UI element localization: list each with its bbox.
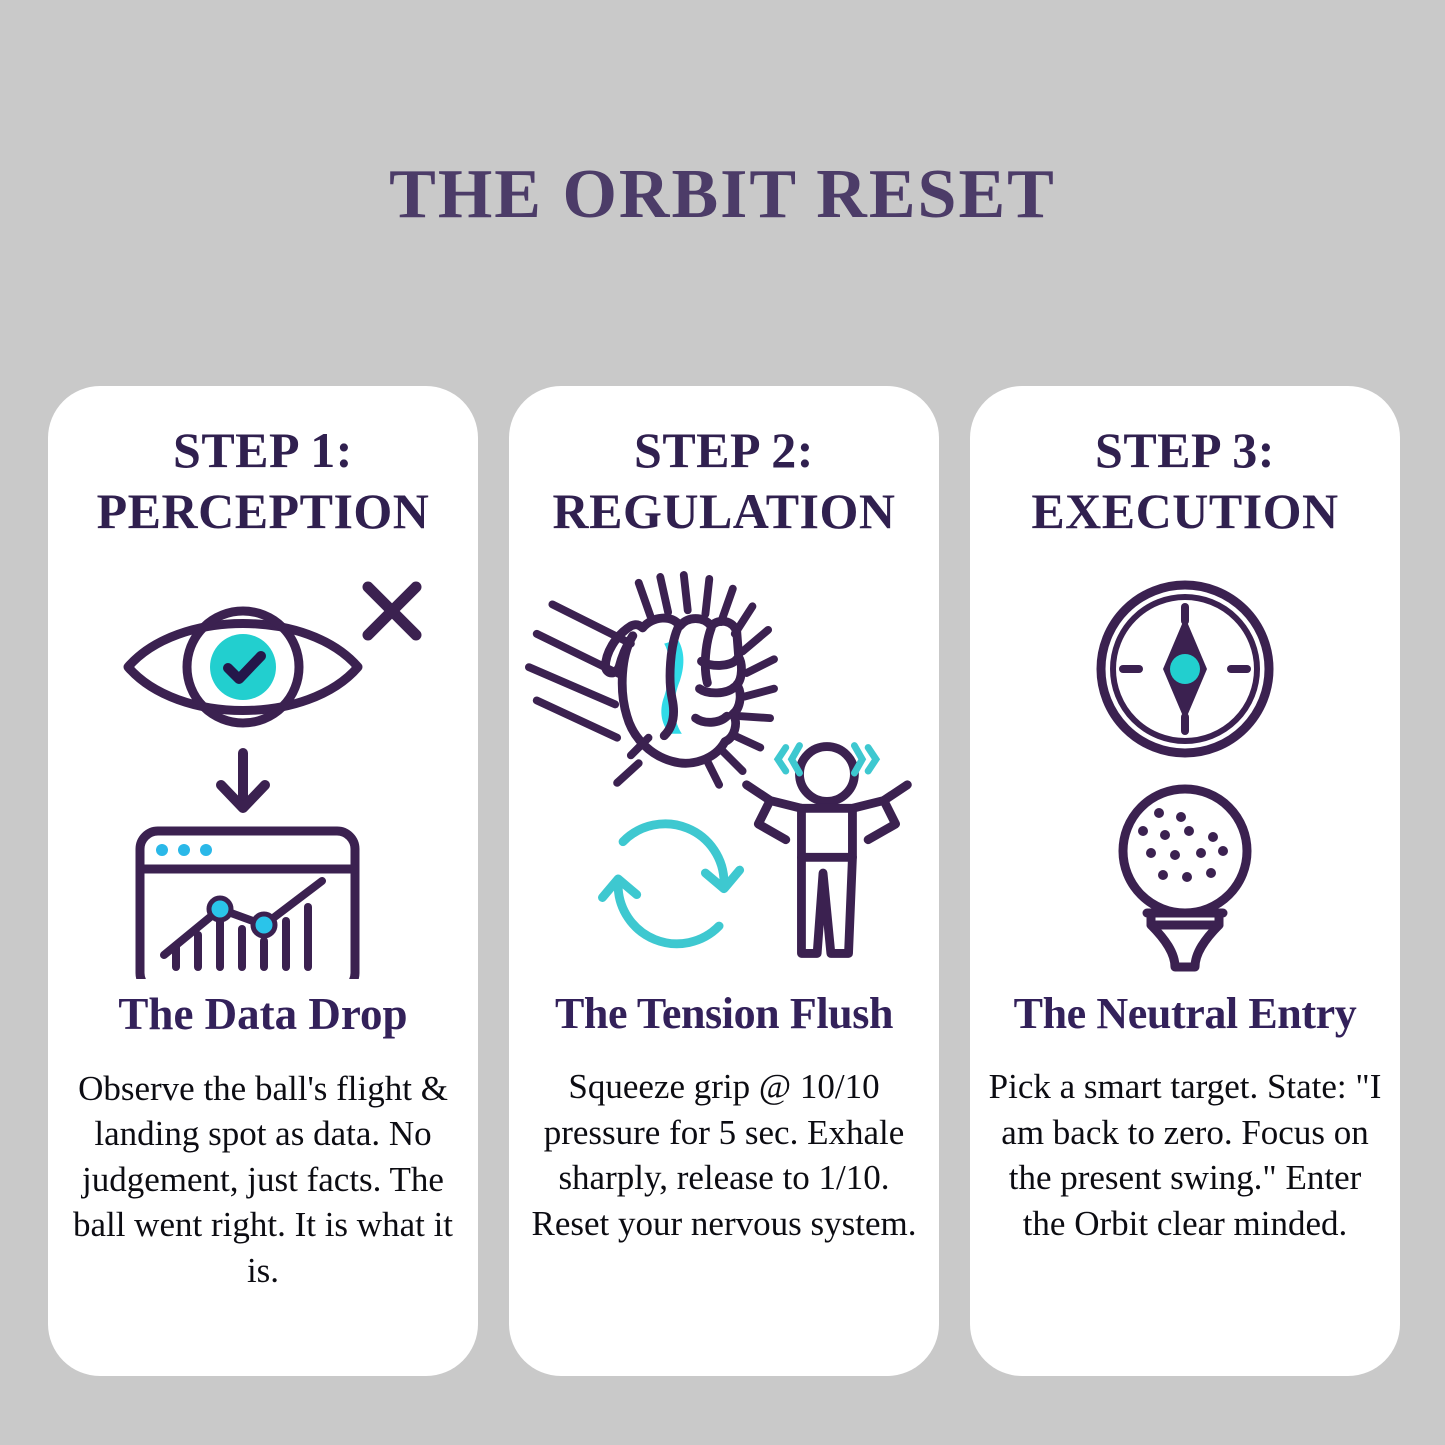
step-2-heading: The Tension Flush	[523, 990, 925, 1038]
window-dots-icon	[156, 844, 212, 856]
step-1-title-line2: PERCEPTION	[62, 481, 464, 542]
refresh-cycle-icon	[602, 824, 739, 944]
step-2-title-line2: REGULATION	[523, 481, 925, 542]
close-x-icon	[368, 587, 416, 635]
page-title: THE ORBIT RESET	[0, 158, 1445, 232]
step-3-body: Pick a smart target. State: "I am back t…	[985, 1064, 1385, 1246]
stressed-person-icon	[747, 747, 908, 954]
step-2-title: STEP 2: REGULATION	[523, 420, 925, 542]
clenched-fist-icon	[605, 618, 741, 763]
step-3-title: STEP 3: EXECUTION	[984, 420, 1386, 542]
step-card-perception: STEP 1: PERCEPTION	[48, 386, 478, 1376]
step-2-title-line1: STEP 2:	[523, 420, 925, 481]
step-1-body: Observe the ball's flight & landing spot…	[63, 1066, 463, 1294]
impact-burst-icon	[617, 575, 774, 785]
execution-illustration	[1055, 569, 1315, 979]
step-3-icon-group	[984, 564, 1386, 984]
eye-pupil-icon	[210, 634, 276, 700]
golf-ball-tee-icon	[1123, 789, 1247, 967]
steps-card-row: STEP 1: PERCEPTION	[48, 386, 1400, 1376]
step-3-title-line2: EXECUTION	[984, 481, 1386, 542]
data-point-icon	[253, 914, 275, 936]
perception-illustration	[98, 569, 428, 979]
golf-dimples-icon	[1138, 808, 1228, 882]
step-2-body: Squeeze grip @ 10/10 pressure for 5 sec.…	[524, 1064, 924, 1246]
down-arrow-icon	[221, 753, 265, 808]
step-3-title-line1: STEP 3:	[984, 420, 1386, 481]
data-point-icon	[209, 898, 231, 920]
compass-icon	[1101, 585, 1269, 753]
step-3-heading: The Neutral Entry	[984, 990, 1386, 1038]
step-1-icon-group	[62, 564, 464, 984]
step-1-title-line1: STEP 1:	[62, 420, 464, 481]
step-2-icon-group	[523, 564, 925, 984]
step-1-title: STEP 1: PERCEPTION	[62, 420, 464, 542]
compass-center-icon	[1170, 654, 1200, 684]
step-card-execution: STEP 3: EXECUTION	[970, 386, 1400, 1376]
regulation-illustration	[523, 569, 925, 979]
step-card-regulation: STEP 2: REGULATION	[509, 386, 939, 1376]
golf-tee-icon	[1147, 913, 1223, 967]
step-1-heading: The Data Drop	[62, 990, 464, 1040]
